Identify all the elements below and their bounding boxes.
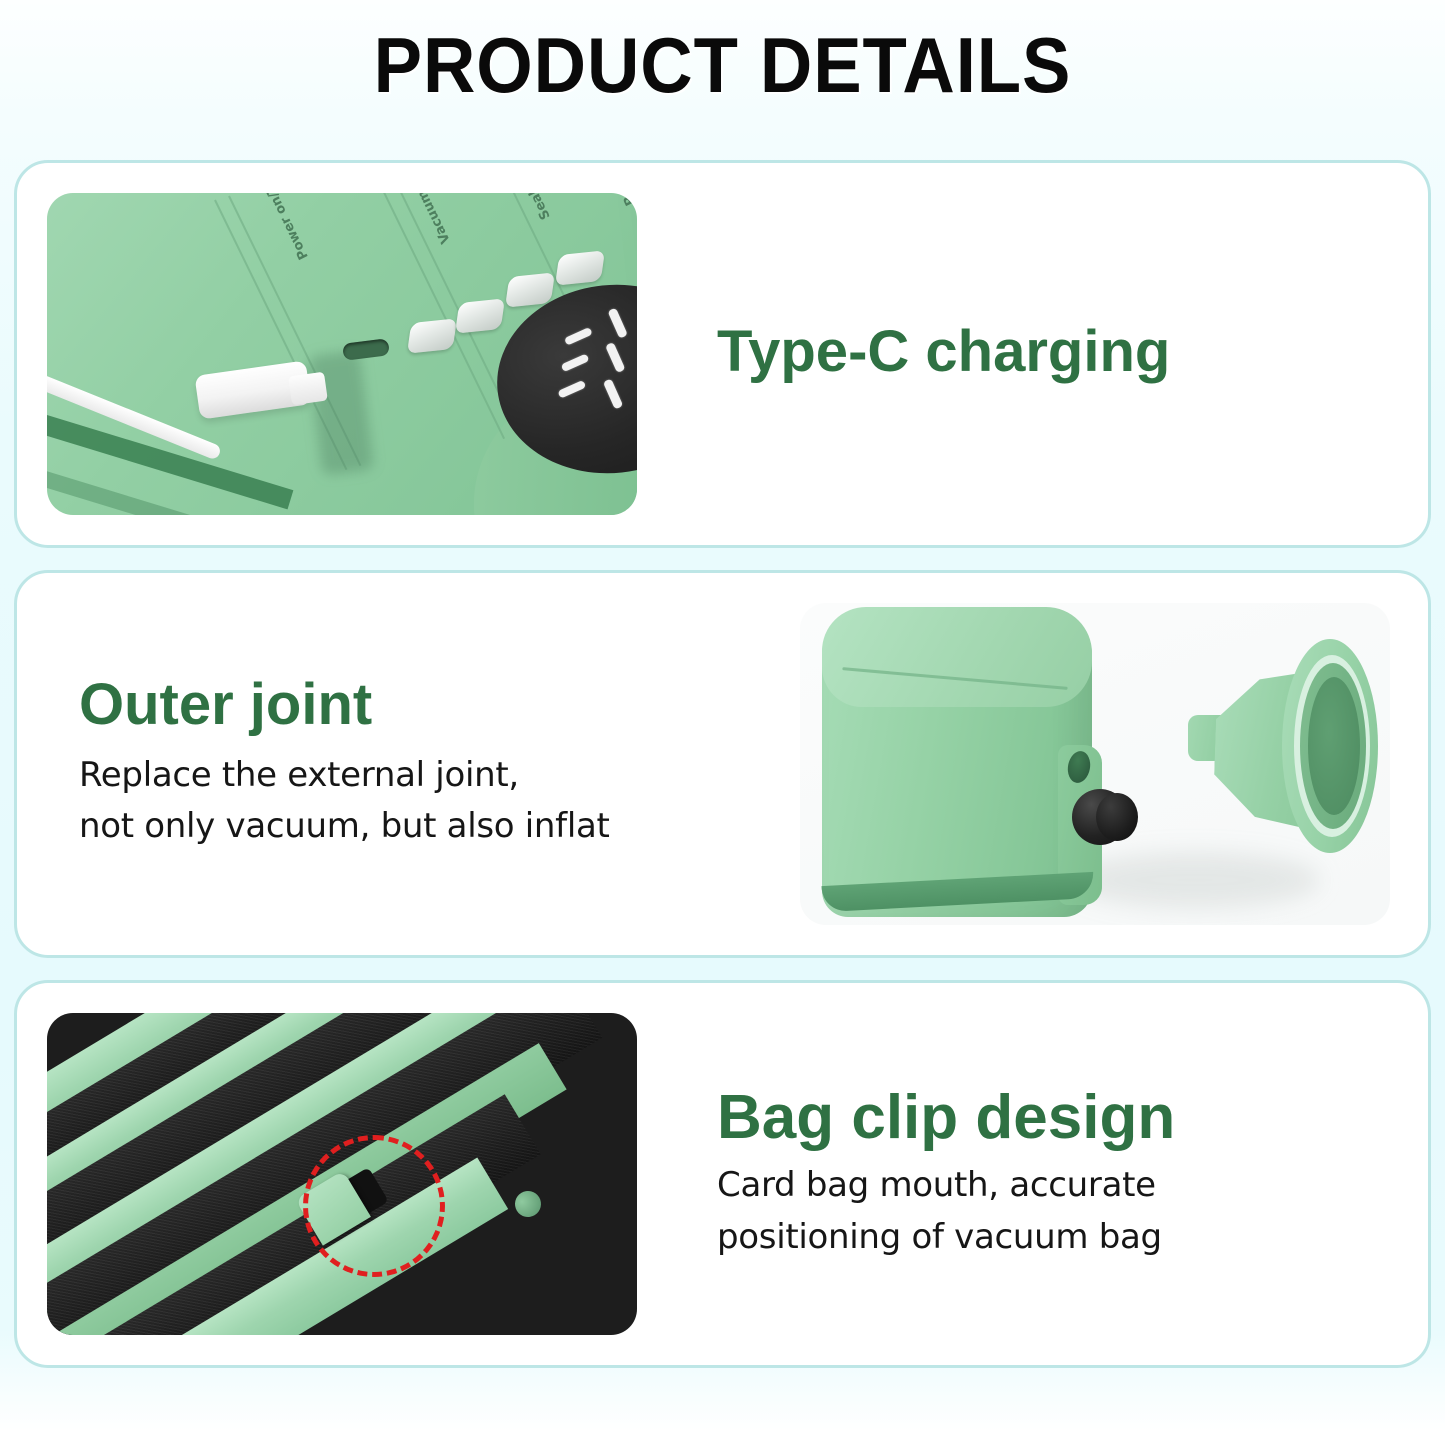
card-body-line: not only vacuum, but also inflat	[79, 801, 760, 853]
card-body-outer-joint: Replace the external joint, not only vac…	[79, 750, 760, 853]
rubber-plug-cap	[1096, 793, 1138, 841]
type-c-charging-text: Type-C charging	[637, 322, 1428, 387]
led-segment	[605, 342, 625, 373]
detail-card-type-c-charging[interactable]: Power on/Temperature Vacuum seal Seal it…	[14, 160, 1431, 548]
led-segment	[557, 380, 586, 399]
led-segment	[607, 308, 627, 339]
outer-joint-text: Outer joint Replace the external joint, …	[17, 675, 800, 853]
detail-cards-list: Power on/Temperature Vacuum seal Seal it…	[14, 160, 1431, 1390]
type-c-charging-photo: Power on/Temperature Vacuum seal Seal it…	[47, 193, 637, 515]
card-body-bag-clip-design: Card bag mouth, accurate positioning of …	[717, 1160, 1388, 1263]
card-heading-outer-joint: Outer joint	[79, 675, 760, 736]
page-title: PRODUCT DETAILS	[51, 0, 1395, 104]
product-shadow	[1070, 853, 1320, 907]
led-segment	[603, 378, 623, 409]
led-segment	[564, 327, 593, 346]
bag-clip-design-text: Bag clip design Card bag mouth, accurate…	[637, 1085, 1428, 1263]
red-dashed-highlight-circle	[303, 1135, 445, 1277]
card-body-line: positioning of vacuum bag	[717, 1212, 1388, 1264]
outer-joint-photo	[800, 603, 1390, 925]
detail-card-outer-joint[interactable]: Outer joint Replace the external joint, …	[14, 570, 1431, 958]
led-segment	[561, 353, 590, 372]
joint-rim-core	[1308, 677, 1360, 815]
usb-c-plug-tip	[288, 372, 328, 406]
sealer-lid	[822, 607, 1092, 707]
locating-pin	[510, 1186, 546, 1222]
card-heading-type-c-charging: Type-C charging	[717, 322, 1388, 383]
card-body-line: Replace the external joint,	[79, 750, 760, 802]
card-heading-bag-clip-design: Bag clip design	[717, 1085, 1388, 1150]
detail-card-bag-clip-design[interactable]: Bag clip design Card bag mouth, accurate…	[14, 980, 1431, 1368]
bag-clip-design-photo	[47, 1013, 637, 1335]
card-body-line: Card bag mouth, accurate	[717, 1160, 1388, 1212]
